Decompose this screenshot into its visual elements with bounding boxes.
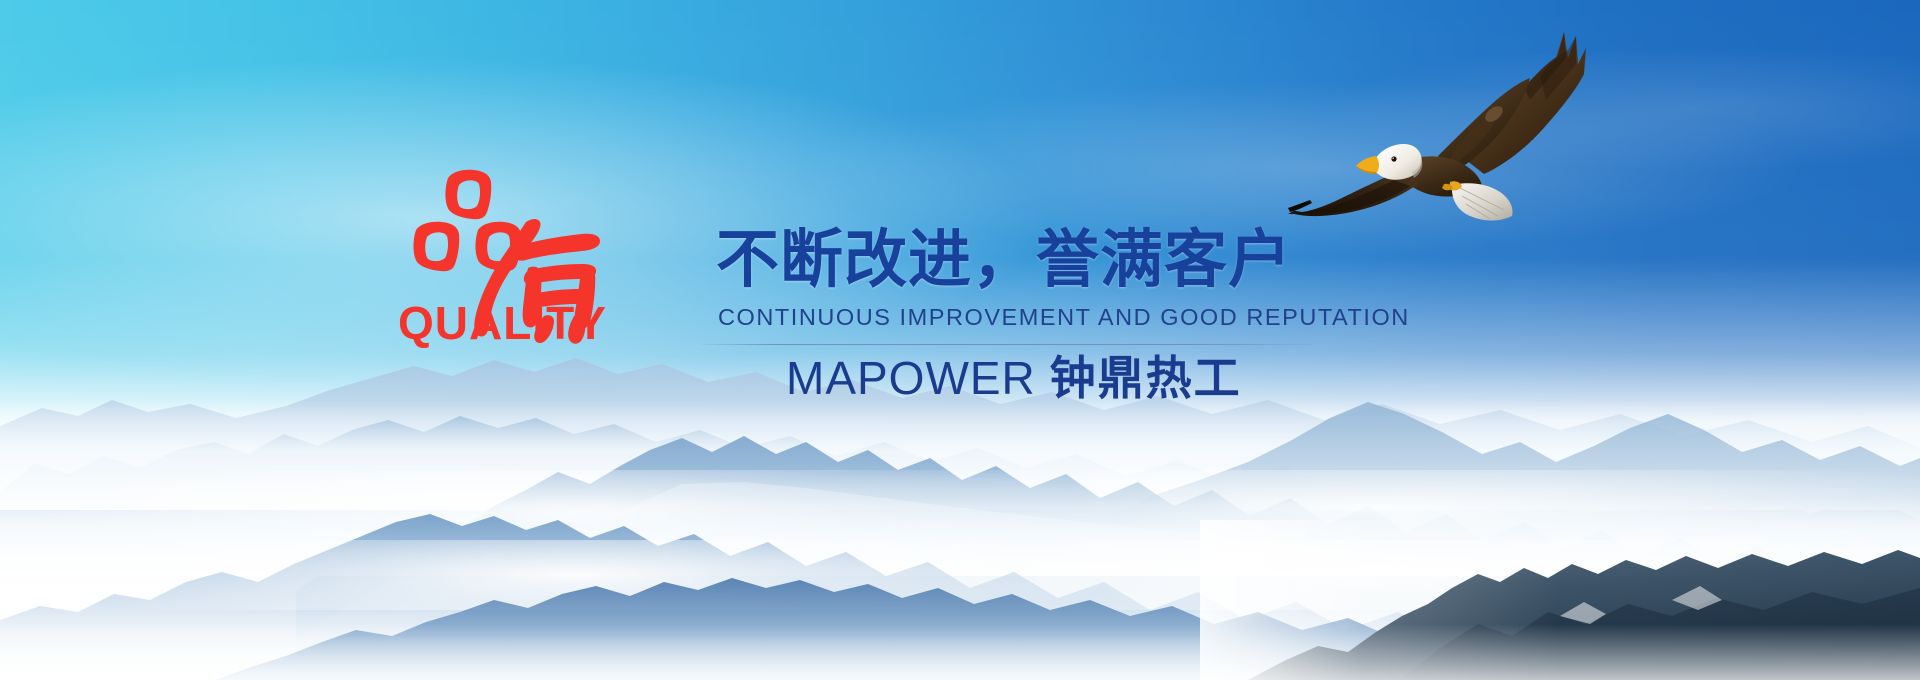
headline-chinese: 不断改进，誉满客户 xyxy=(716,228,1292,294)
subheadline-english: CONTINUOUS IMPROVEMENT AND GOOD REPUTATI… xyxy=(718,306,1410,330)
hero-banner: QUALITY 不断改进，誉满客户 CONTINUOUS IMPROVEMENT… xyxy=(0,0,1920,680)
brand-name-cn: 钟鼎热工 xyxy=(1050,352,1242,404)
mountain-rocky-peak-right xyxy=(0,520,1920,680)
eagle-illustration xyxy=(1288,14,1588,229)
brand-line: MAPOWER 钟鼎热工 xyxy=(786,352,1242,405)
brand-spacer xyxy=(1036,352,1050,404)
brand-name-en: MAPOWER xyxy=(786,352,1036,404)
divider-rule xyxy=(700,344,1312,345)
quality-word-label: QUALITY xyxy=(398,300,607,346)
